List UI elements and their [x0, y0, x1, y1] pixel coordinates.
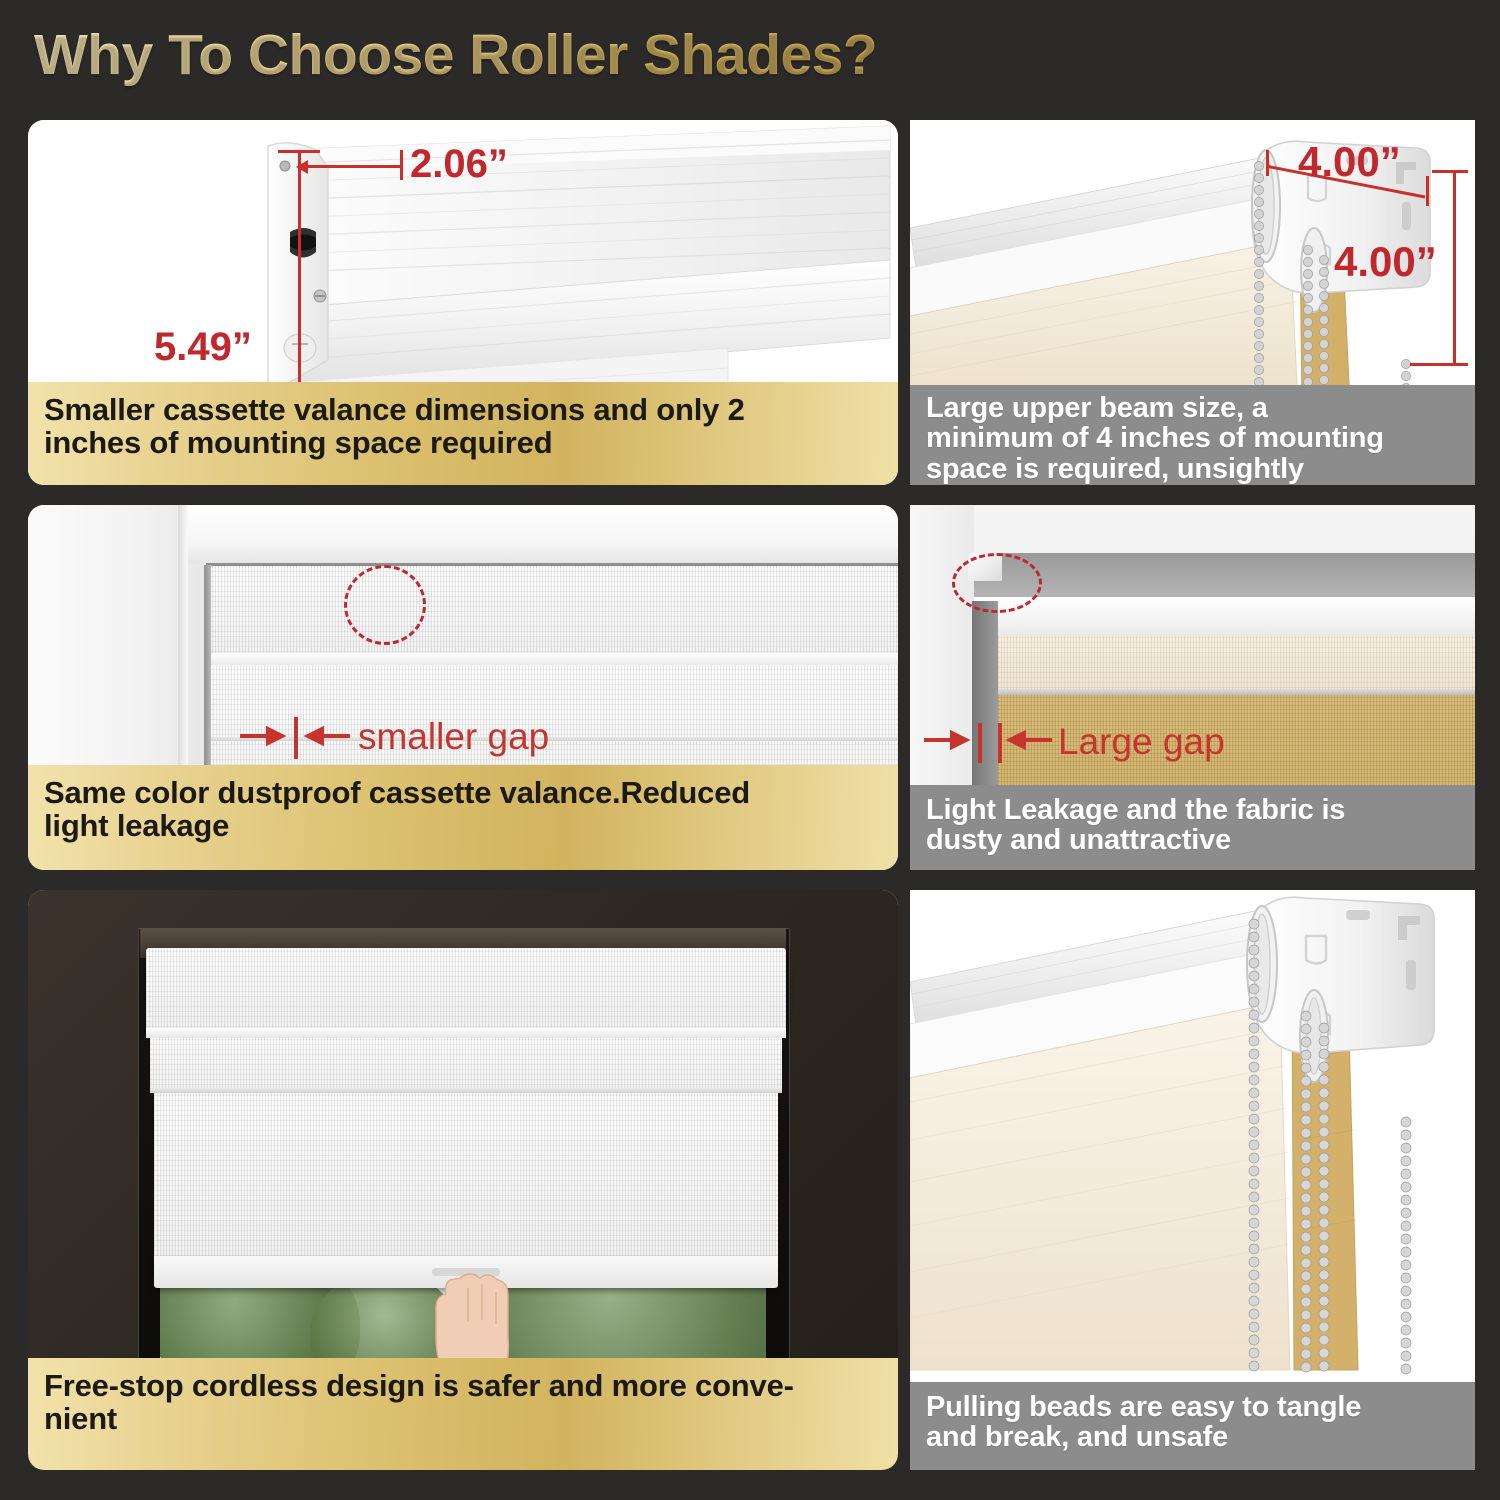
caption-line: Large upper beam size, a: [926, 393, 1459, 423]
caption-line: and break, and unsafe: [926, 1422, 1459, 1452]
beam-width-dimension-label: 4.00”: [1298, 138, 1401, 186]
caption-line: Same color dustproof cassette valance.Re…: [44, 777, 882, 810]
panel-upper-beam-size: 4.00” 4.00” Large upper beam size, a min…: [910, 120, 1475, 485]
caption-upper-beam-size: Large upper beam size, a minimum of 4 in…: [910, 385, 1475, 485]
height-dimension-label: 5.49”: [154, 325, 252, 370]
panel-dustproof-cassette-valance: smaller gap Same color dustproof cassett…: [28, 505, 898, 870]
gap-arrow-left-icon: [240, 727, 284, 753]
caption-line: inches of mounting space required: [44, 427, 882, 460]
caption-line: space is required, unsightly: [926, 454, 1459, 484]
gap-arrow-left-icon: [924, 731, 968, 757]
panel-cassette-valance-dimensions: 2.06” 5.49” Smaller cassette valance dim…: [28, 120, 898, 485]
beam-shadow: [972, 553, 1475, 601]
caption-line: minimum of 4 inches of mounting: [926, 423, 1459, 453]
caption-cassette-valance-dimensions: Smaller cassette valance dimensions and …: [28, 382, 898, 485]
caption-light-leakage: Light Leakage and the fabric is dusty an…: [910, 785, 1475, 870]
caption-line: Pulling beads are easy to tangle: [926, 1392, 1459, 1422]
caption-line: nient: [44, 1403, 882, 1436]
cream-fabric-band: [980, 635, 1475, 693]
caption-line: Smaller cassette valance dimensions and …: [44, 394, 882, 427]
height-tick-top: [278, 150, 320, 153]
window-head-casing: [188, 505, 898, 563]
beam-height-tick-bottom: [1410, 363, 1468, 366]
shade-fabric: [154, 1093, 778, 1261]
gap-arrow-right-icon: [306, 727, 350, 753]
caption-line: light leakage: [44, 810, 882, 843]
cassette-valance-bar: [206, 563, 898, 662]
beam-width-tick-right: [1426, 176, 1429, 206]
highlight-circle: [952, 553, 1042, 613]
panel-light-leakage: Large gap Light Leakage and the fabric i…: [910, 505, 1475, 870]
caption-line: dusty and unattractive: [926, 825, 1459, 855]
width-tick-right: [400, 150, 403, 180]
bead-chain: [1249, 919, 1259, 1371]
page-title: Why To Choose Roller Shades?: [34, 22, 877, 88]
gap-tick: [294, 717, 298, 759]
width-arrow-left-icon: [294, 158, 310, 176]
gap-label: smaller gap: [358, 716, 549, 758]
beam-height-dimension-label: 4.00”: [1334, 238, 1437, 286]
caption-line: Free-stop cordless design is safer and m…: [44, 1370, 882, 1403]
bead-chain: [1401, 1117, 1411, 1374]
cassette-valance-bar: [146, 948, 786, 1032]
panel-free-stop-cordless: Free-stop cordless design is safer and m…: [28, 890, 898, 1470]
caption-dustproof-cassette-valance: Same color dustproof cassette valance.Re…: [28, 765, 898, 870]
caption-pulling-beads: Pulling beads are easy to tangle and bre…: [910, 1382, 1475, 1470]
beam-height-dimension-line: [1453, 170, 1456, 366]
caption-line: Light Leakage and the fabric is: [926, 795, 1459, 825]
beam-height-tick-top: [1432, 170, 1468, 173]
caption-free-stop-cordless: Free-stop cordless design is safer and m…: [28, 1358, 898, 1470]
gap-label: Large gap: [1058, 721, 1225, 763]
gap-tick-left: [978, 723, 982, 763]
width-dimension-line: [300, 165, 402, 168]
beam-width-tick-left: [1266, 150, 1269, 176]
gap-arrow-right-icon: [1008, 731, 1052, 757]
window-frame-edge: [178, 505, 188, 805]
window-jamb: [910, 505, 974, 805]
gap-tick-right: [998, 723, 1002, 763]
highlight-circle: [344, 565, 426, 645]
valance-lip: [146, 1028, 786, 1038]
panel-pulling-beads: Pulling beads are easy to tangle and bre…: [910, 890, 1475, 1470]
width-dimension-label: 2.06”: [410, 142, 508, 187]
shade-upper-band: [150, 1038, 782, 1090]
